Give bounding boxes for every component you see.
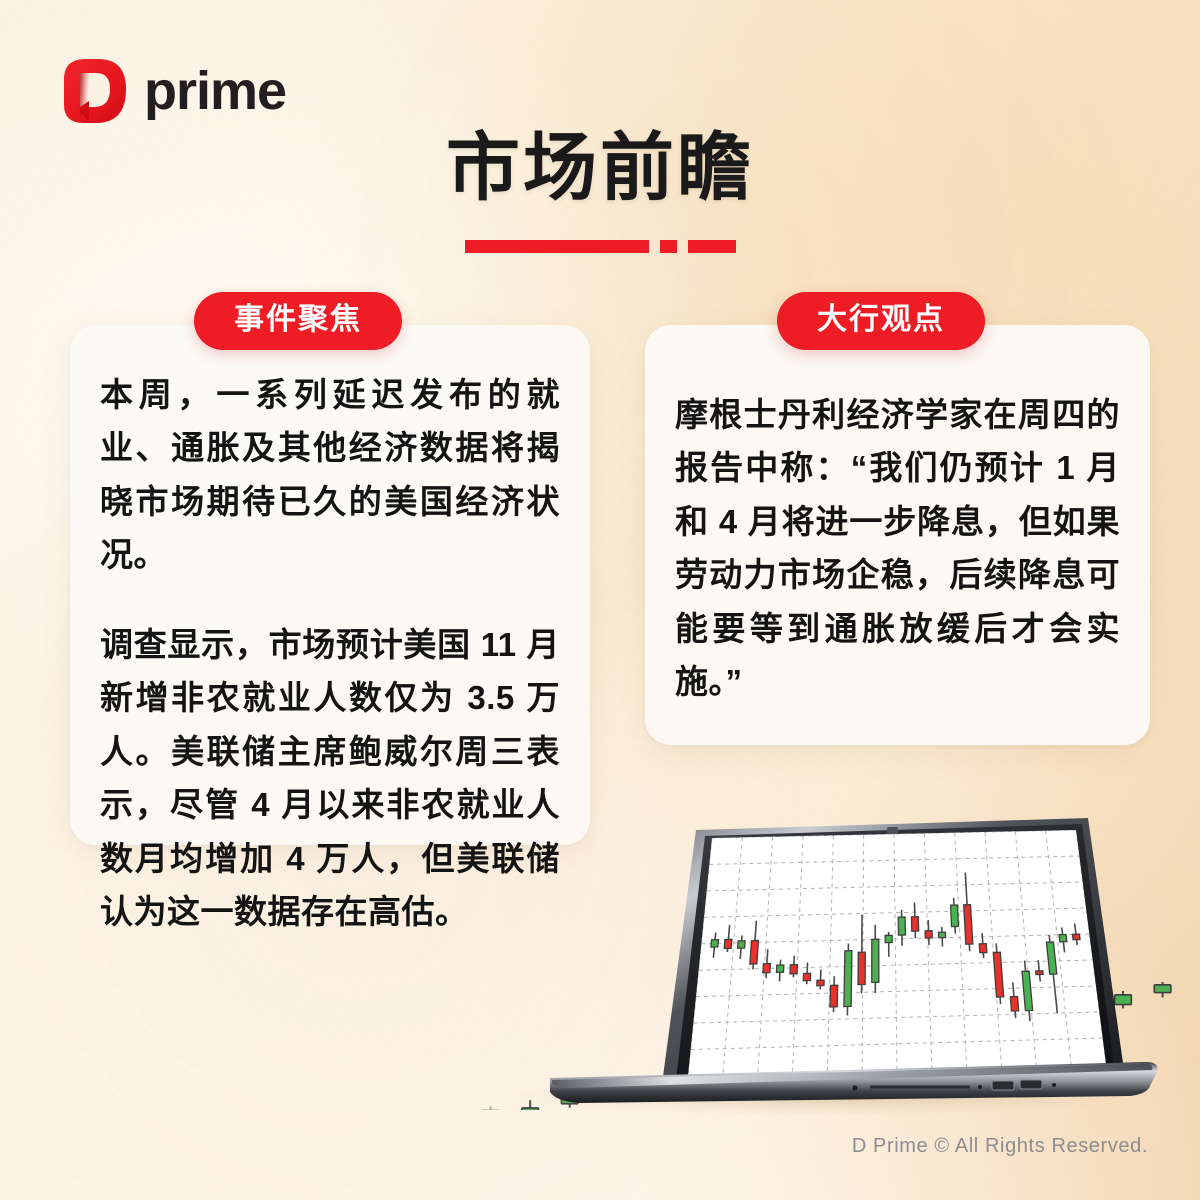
poster-canvas: prime 市场前瞻 本周，一系列延迟发布的就业、通胀及其他经济数据将揭晓市场期… (0, 0, 1200, 1200)
underline-bar-long (465, 240, 649, 253)
paragraph: 摩根士丹利经济学家在周四的报告中称：“我们仍预计 1 月和 4 月将进一步降息，… (675, 388, 1120, 709)
laptop-port-1-icon (992, 1081, 1014, 1090)
badge-bank-view[interactable]: 大行观点 (777, 292, 985, 350)
paragraph: 本周，一系列延迟发布的就业、通胀及其他经济数据将揭晓市场期待已久的美国经济状况。 (100, 368, 560, 582)
laptop-indicator-icon (852, 1085, 857, 1090)
page-title: 市场前瞻 (446, 128, 754, 208)
brand-wordmark: prime (144, 64, 286, 118)
laptop-screen (670, 820, 1130, 1090)
brand-wordmark-text: prime (144, 61, 286, 121)
title-underline (465, 240, 736, 253)
laptop-slot (870, 1086, 970, 1089)
brand-logo: prime (58, 55, 286, 127)
underline-bar-dot (660, 240, 677, 253)
laptop-port-2-icon (1020, 1080, 1042, 1089)
card-bank-view: 摩根士丹利经济学家在周四的报告中称：“我们仍预计 1 月和 4 月将进一步降息，… (645, 325, 1150, 745)
webcam-icon (887, 827, 898, 834)
paragraph: 调查显示，市场预计美国 11 月新增非农就业人数仅为 3.5 万人。美联储主席鲍… (100, 618, 560, 939)
underline-bar-mid (688, 240, 736, 253)
card-event-focus-body: 本周，一系列延迟发布的就业、通胀及其他经济数据将揭晓市场期待已久的美国经济状况。… (70, 368, 590, 939)
d-prime-logo-icon (58, 55, 130, 127)
card-bank-view-body: 摩根士丹利经济学家在周四的报告中称：“我们仍预计 1 月和 4 月将进一步降息，… (645, 388, 1150, 709)
badge-event-focus[interactable]: 事件聚焦 (194, 292, 402, 350)
laptop-dot2-icon (1052, 1083, 1056, 1087)
laptop-dot-icon (978, 1085, 982, 1089)
footer-copyright: D Prime © All Rights Reserved. (852, 1135, 1148, 1158)
card-event-focus: 本周，一系列延迟发布的就业、通胀及其他经济数据将揭晓市场期待已久的美国经济状况。… (70, 325, 590, 845)
page-title-wrap: 市场前瞻 (0, 128, 1200, 208)
